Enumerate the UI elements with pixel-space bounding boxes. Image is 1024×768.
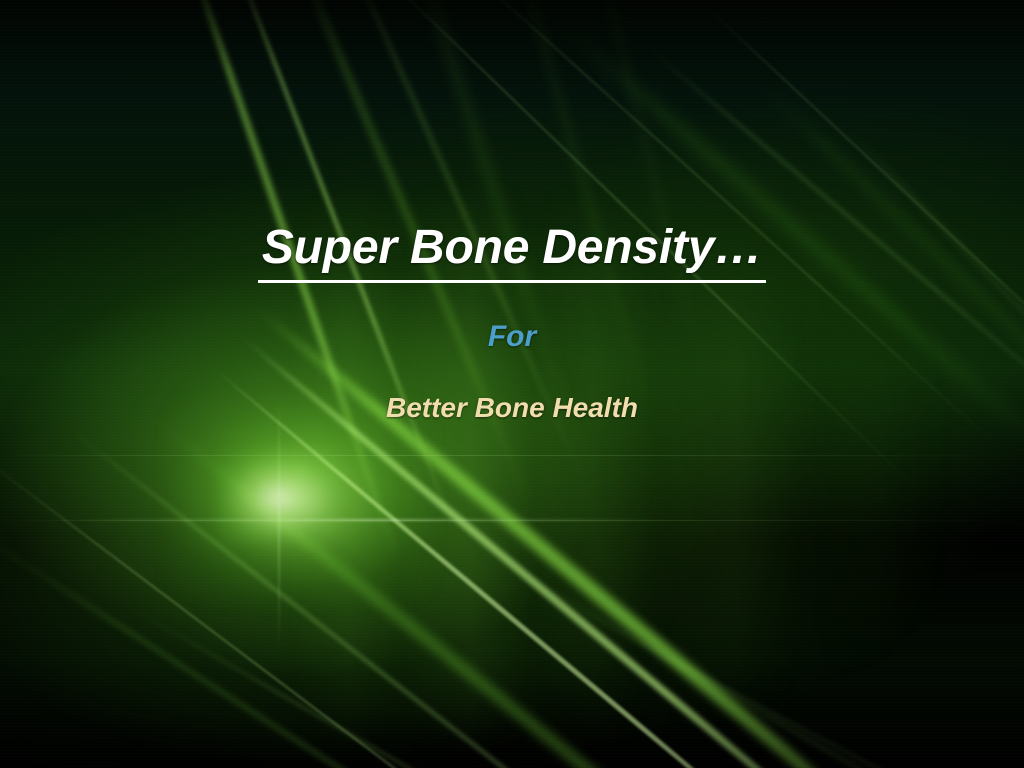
presentation-slide: Super Bone Density… For Better Bone Heal… — [0, 0, 1024, 768]
slide-title: Super Bone Density… — [258, 222, 766, 283]
slide-subtitle-line1: For — [488, 320, 536, 353]
slide-subtitle-line2-container: Better Bone Health — [0, 392, 1024, 424]
slide-title-container: Super Bone Density… — [0, 222, 1024, 283]
slide-text-stack: Super Bone Density… For Better Bone Heal… — [0, 0, 1024, 768]
slide-subtitle-line2: Better Bone Health — [386, 392, 638, 423]
slide-subtitle-line1-container: For — [0, 320, 1024, 354]
